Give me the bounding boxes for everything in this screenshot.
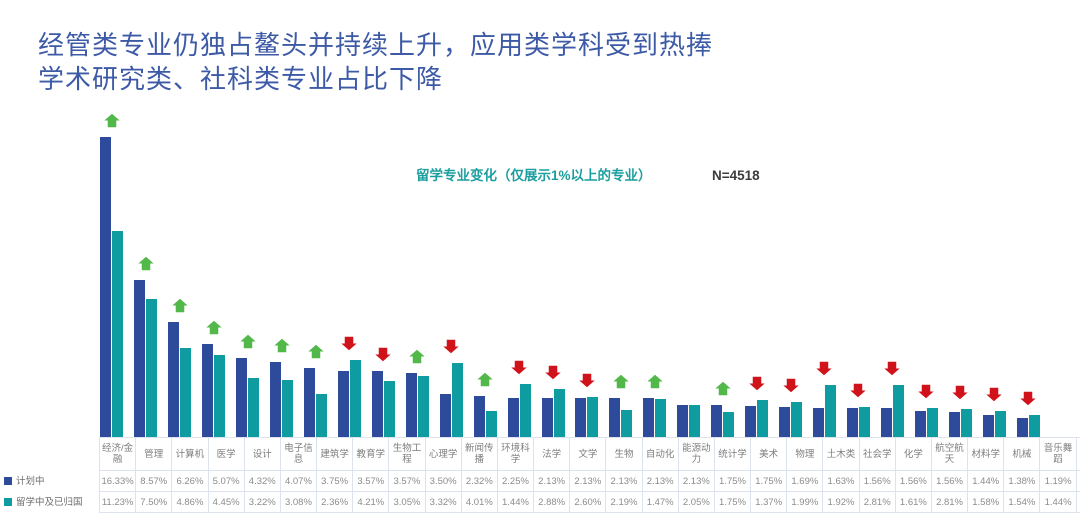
trend-down-icon: [782, 377, 799, 394]
bar-group: [674, 112, 704, 437]
table-cell-planning: 1.69%: [787, 471, 823, 492]
trend-up-icon: [477, 371, 494, 388]
table-cell-studying: 2.36%: [317, 492, 353, 513]
table-col-header: 建筑学: [317, 438, 353, 471]
legend-swatch-planning: [4, 477, 12, 485]
bar-group: [979, 112, 1009, 437]
bar-studying: [316, 394, 327, 437]
bar-group: [538, 112, 568, 437]
table-cell-studying: 4.01%: [461, 492, 497, 513]
bar-planning: [881, 408, 892, 437]
table-cell-planning: 1.38%: [1004, 471, 1040, 492]
table-col-header: 设计: [244, 438, 280, 471]
bar-studying: [621, 410, 632, 437]
table-cell-planning: 2.25%: [497, 471, 533, 492]
table-cell-planning: 1.75%: [714, 471, 750, 492]
bar-planning: [270, 362, 281, 437]
trend-down-icon: [375, 346, 392, 363]
trend-up-icon: [646, 373, 663, 390]
trend-up-icon: [205, 319, 222, 336]
bar-planning: [847, 408, 858, 437]
bar-studying: [961, 409, 972, 437]
trend-down-icon: [545, 364, 562, 381]
table-col-header: 化学: [895, 438, 931, 471]
table-cell-planning: 2.13%: [570, 471, 606, 492]
table-cell-studying: 2.81%: [931, 492, 967, 513]
bar-studying: [689, 405, 700, 437]
bar-group: [945, 112, 975, 437]
bar-group: [877, 112, 907, 437]
bar-planning: [508, 398, 519, 437]
table-col-header: 能源动力: [678, 438, 714, 471]
trend-down-icon: [816, 360, 833, 377]
table-cell-planning: 1.56%: [895, 471, 931, 492]
bar-studying: [452, 363, 463, 437]
bar-planning: [711, 405, 722, 437]
bar-studying: [486, 411, 497, 437]
bar-studying: [859, 407, 870, 437]
trend-down-icon: [986, 386, 1003, 403]
table-header-row: 经济/金融管理计算机医学设计电子信息建筑学教育学生物工程心理学新闻传播环境科学法…: [0, 438, 1080, 471]
table-cell-studying: 1.44%: [1040, 492, 1076, 513]
bar-group: [504, 112, 534, 437]
trend-up-icon: [137, 255, 154, 272]
table-col-header: 航空航天: [931, 438, 967, 471]
bar-planning: [338, 371, 349, 437]
table-col-header: 自动化: [642, 438, 678, 471]
table-col-header: 环境科学: [497, 438, 533, 471]
trend-up-icon: [273, 337, 290, 354]
trend-down-icon: [884, 360, 901, 377]
bar-planning: [372, 371, 383, 437]
bar-studying: [893, 385, 904, 437]
bar-group: [809, 112, 839, 437]
bar-planning: [440, 394, 451, 437]
bar-group: [742, 112, 772, 437]
table-cell-studying: 7.50%: [136, 492, 172, 513]
table-cell-studying: 3.22%: [244, 492, 280, 513]
table-col-header: 心理学: [425, 438, 461, 471]
bar-studying: [723, 412, 734, 437]
bar-planning: [779, 407, 790, 437]
table-cell-studying: 2.05%: [678, 492, 714, 513]
trend-up-icon: [714, 380, 731, 397]
bar-studying: [112, 231, 123, 437]
table-cell-studying: 1.75%: [714, 492, 750, 513]
table-cell-planning: 3.57%: [353, 471, 389, 492]
table-cell-studying: 1.37%: [751, 492, 787, 513]
table-cell-planning: 5.07%: [208, 471, 244, 492]
bar-group: [606, 112, 636, 437]
table-col-header: 统计学: [714, 438, 750, 471]
bar-planning: [983, 415, 994, 437]
table-row-planning: 计划中 16.33%8.57%6.26%5.07%4.32%4.07%3.75%…: [0, 471, 1080, 492]
trend-down-icon: [1020, 390, 1037, 407]
table-cell-planning: 2.13%: [534, 471, 570, 492]
table-cell-studying: 2.60%: [570, 492, 606, 513]
table-cell-planning: 1.06%: [1076, 471, 1080, 492]
table-cell-studying: 1.54%: [1004, 492, 1040, 513]
bar-group: [368, 112, 398, 437]
table-col-header: 音乐舞蹈: [1040, 438, 1076, 471]
table-cell-planning: 1.44%: [968, 471, 1004, 492]
table-col-header: 食品科学: [1076, 438, 1080, 471]
table-col-header: 医学: [208, 438, 244, 471]
table-cell-studying: 3.32%: [425, 492, 461, 513]
trend-up-icon: [307, 343, 324, 360]
table-row-studying: 留学中及已归国 11.23%7.50%4.86%4.45%3.22%3.08%2…: [0, 492, 1080, 513]
bar-studying: [927, 408, 938, 437]
header-lead-cell: [0, 438, 100, 471]
bar-group: [233, 112, 263, 437]
legend-label-planning: 计划中: [16, 476, 45, 487]
table-cell-planning: 6.26%: [172, 471, 208, 492]
table-cell-studying: 1.44%: [497, 492, 533, 513]
table-cell-planning: 3.75%: [317, 471, 353, 492]
table-cell-planning: 1.56%: [859, 471, 895, 492]
trend-up-icon: [103, 112, 120, 129]
bar-studying: [1029, 415, 1040, 437]
trend-up-icon: [171, 297, 188, 314]
bar-chart-plot: [95, 112, 1045, 437]
table-col-header: 生物工程: [389, 438, 425, 471]
table-cell-studying: 11.23%: [100, 492, 136, 513]
table-cell-studying: 4.21%: [353, 492, 389, 513]
bar-studying: [418, 376, 429, 437]
bar-planning: [236, 358, 247, 437]
bar-studying: [554, 389, 565, 437]
table-col-header: 美术: [751, 438, 787, 471]
table-cell-planning: 1.56%: [931, 471, 967, 492]
table-col-header: 教育学: [353, 438, 389, 471]
table-cell-planning: 3.50%: [425, 471, 461, 492]
table-cell-studying: 1.92%: [823, 492, 859, 513]
table-cell-studying: 1.99%: [787, 492, 823, 513]
bar-planning: [168, 322, 179, 437]
table-cell-studying: 1.61%: [895, 492, 931, 513]
bar-studying: [248, 378, 259, 437]
table-col-header: 土木类: [823, 438, 859, 471]
bar-planning: [100, 137, 111, 437]
table-col-header: 物理: [787, 438, 823, 471]
bar-group: [267, 112, 297, 437]
bar-group: [334, 112, 364, 437]
table-cell-planning: 2.32%: [461, 471, 497, 492]
bar-group: [131, 112, 161, 437]
bar-studying: [791, 402, 802, 437]
bar-studying: [214, 355, 225, 437]
bar-planning: [677, 405, 688, 437]
bar-group: [572, 112, 602, 437]
trend-down-icon: [918, 383, 935, 400]
table-cell-studying: 1.47%: [642, 492, 678, 513]
table-col-header: 材料学: [968, 438, 1004, 471]
table-cell-planning: 3.57%: [389, 471, 425, 492]
table-col-header: 生物: [606, 438, 642, 471]
table-cell-studying: 2.81%: [859, 492, 895, 513]
trend-down-icon: [952, 384, 969, 401]
bar-studying: [350, 360, 361, 437]
table-col-header: 新闻传播: [461, 438, 497, 471]
table-cell-planning: 1.19%: [1040, 471, 1076, 492]
bar-planning: [134, 280, 145, 437]
bar-planning: [1017, 418, 1028, 437]
table-cell-planning: 4.07%: [280, 471, 316, 492]
bar-group: [402, 112, 432, 437]
bar-studying: [282, 380, 293, 437]
table-cell-studying: 3.05%: [389, 492, 425, 513]
bar-group: [911, 112, 941, 437]
bar-planning: [643, 398, 654, 437]
legend-item-planning[interactable]: 计划中: [0, 471, 100, 492]
bar-studying: [655, 399, 666, 437]
trend-down-icon: [341, 335, 358, 352]
table-col-header: 管理: [136, 438, 172, 471]
bar-planning: [542, 398, 553, 437]
bar-studying: [587, 397, 598, 437]
legend-label-studying: 留学中及已归国: [16, 497, 83, 508]
trend-down-icon: [443, 338, 460, 355]
bar-group: [436, 112, 466, 437]
table-cell-planning: 2.13%: [642, 471, 678, 492]
table-cell-studying: 4.45%: [208, 492, 244, 513]
bar-studying: [384, 381, 395, 437]
trend-up-icon: [239, 333, 256, 350]
table-cell-studying: 1.58%: [968, 492, 1004, 513]
bar-planning: [575, 398, 586, 437]
bar-studying: [995, 411, 1006, 437]
bar-planning: [745, 406, 756, 437]
bar-planning: [609, 398, 620, 437]
table-col-header: 计算机: [172, 438, 208, 471]
bar-planning: [949, 412, 960, 437]
bar-studying: [520, 384, 531, 437]
table-cell-studying: 2.88%: [534, 492, 570, 513]
trend-down-icon: [578, 372, 595, 389]
table-cell-studying: 3.08%: [280, 492, 316, 513]
table-col-header: 电子信息: [280, 438, 316, 471]
bar-planning: [406, 373, 417, 437]
legend-item-studying[interactable]: 留学中及已归国: [0, 492, 100, 513]
bar-studying: [825, 385, 836, 437]
trend-down-icon: [511, 359, 528, 376]
trend-down-icon: [850, 382, 867, 399]
bar-group: [165, 112, 195, 437]
table-col-header: 社会学: [859, 438, 895, 471]
bar-planning: [202, 344, 213, 437]
table-cell-studying: 2.19%: [606, 492, 642, 513]
table-cell-planning: 4.32%: [244, 471, 280, 492]
bar-group: [199, 112, 229, 437]
table-cell-studying: 4.86%: [172, 492, 208, 513]
bar-group: [776, 112, 806, 437]
data-table: 经济/金融管理计算机医学设计电子信息建筑学教育学生物工程心理学新闻传播环境科学法…: [0, 437, 1080, 523]
table-col-header: 机械: [1004, 438, 1040, 471]
trend-up-icon: [612, 373, 629, 390]
bar-studying: [146, 299, 157, 437]
table-cell-planning: 16.33%: [100, 471, 136, 492]
bar-planning: [915, 411, 926, 437]
table-cell-planning: 1.63%: [823, 471, 859, 492]
table-cell-planning: 1.75%: [751, 471, 787, 492]
bar-group: [470, 112, 500, 437]
bar-group: [97, 112, 127, 437]
bar-group: [708, 112, 738, 437]
bar-group: [1013, 112, 1043, 437]
legend-swatch-studying: [4, 498, 12, 506]
bar-studying: [180, 348, 191, 437]
table-cell-studying: 1.20%: [1076, 492, 1080, 513]
trend-up-icon: [409, 348, 426, 365]
bar-planning: [813, 408, 824, 437]
trend-down-icon: [748, 375, 765, 392]
bar-planning: [474, 396, 485, 437]
page-title: 经管类专业仍独占鳌头并持续上升，应用类学科受到热捧 学术研究类、社科类专业占比下…: [38, 28, 1018, 96]
bar-planning: [304, 368, 315, 437]
table-cell-planning: 2.13%: [678, 471, 714, 492]
table-col-header: 经济/金融: [100, 438, 136, 471]
table-col-header: 文学: [570, 438, 606, 471]
bar-studying: [757, 400, 768, 437]
table-col-header: 法学: [534, 438, 570, 471]
bar-group: [843, 112, 873, 437]
table-cell-planning: 8.57%: [136, 471, 172, 492]
bar-group: [301, 112, 331, 437]
bar-group: [640, 112, 670, 437]
table-cell-planning: 2.13%: [606, 471, 642, 492]
